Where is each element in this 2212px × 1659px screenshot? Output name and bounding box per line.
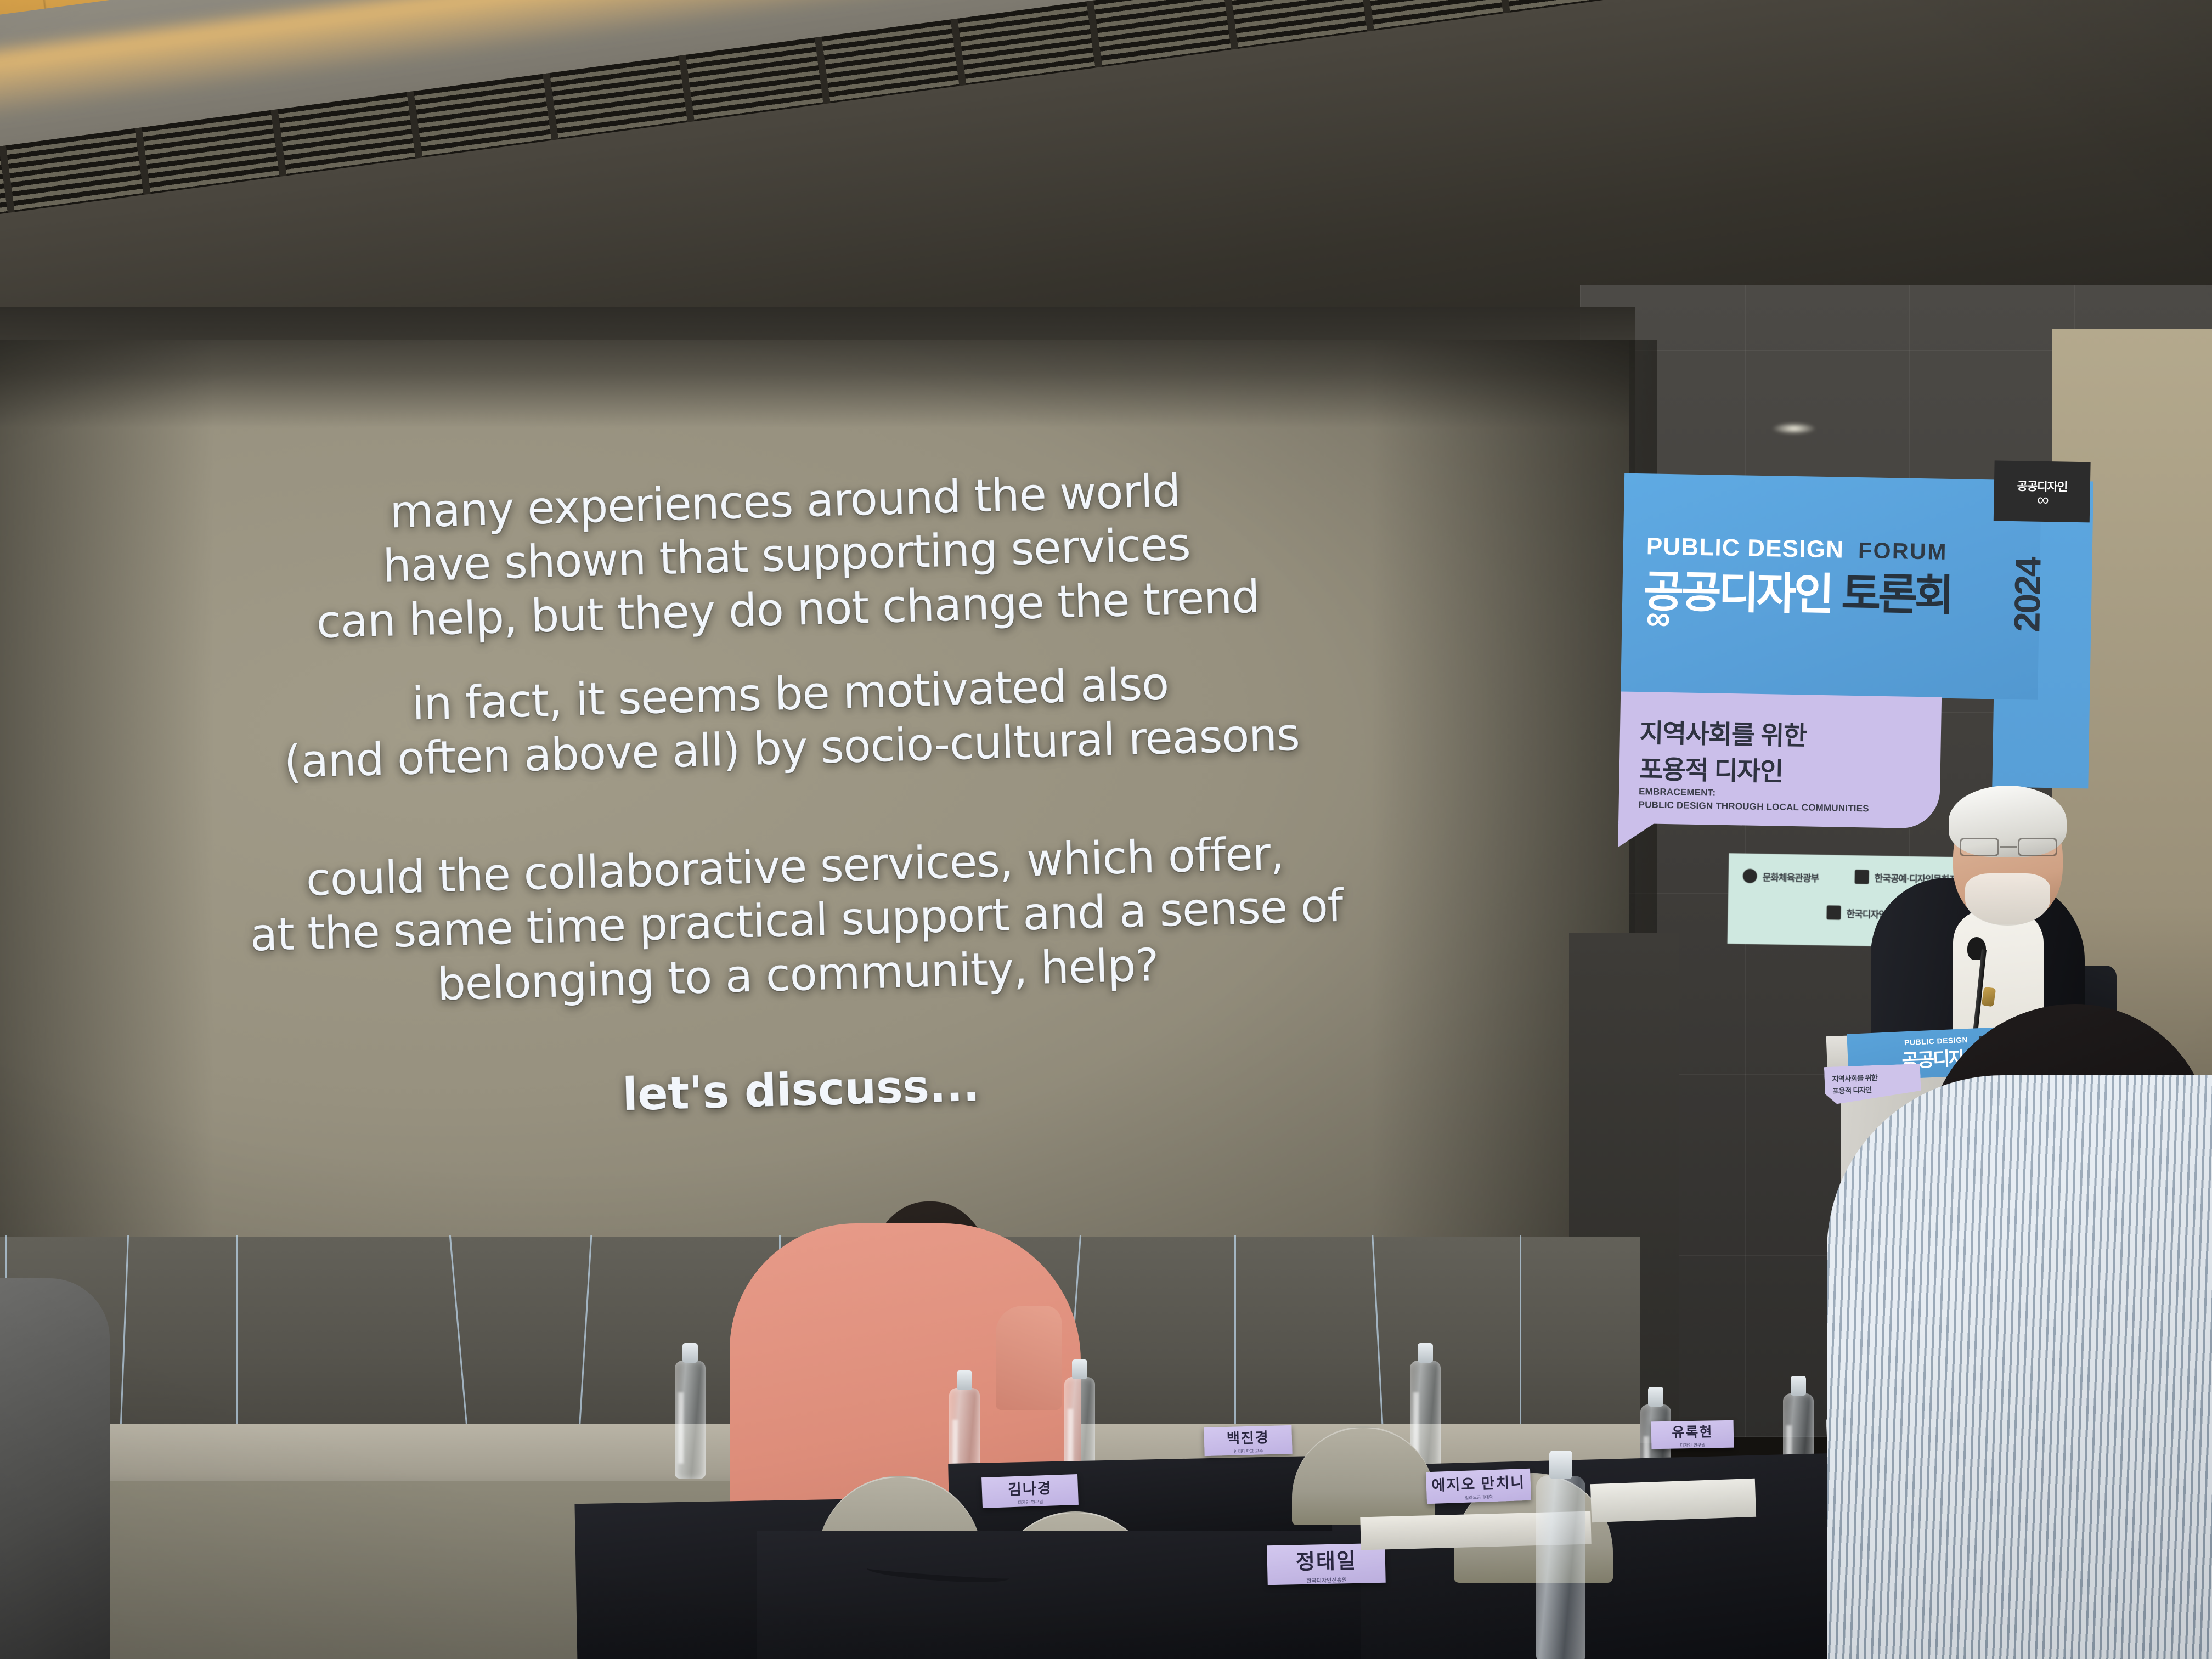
banner-infinity-icon: ∞ — [1646, 599, 1666, 638]
panelist-arm — [996, 1306, 1062, 1410]
screen-vignette — [0, 340, 1635, 1273]
banner-subtitle-box: 지역사회를 위한 포용적 디자인 EMBRACEMENT: PUBLIC DES… — [1618, 692, 1942, 829]
nameplate-subtitle: 한국디자인진흥원 — [1306, 1575, 1347, 1584]
nameplate: 유록현 디자인 연구원 — [1651, 1420, 1734, 1449]
banner-korean-titles: 공공디자인 토론회 — [1643, 556, 1952, 625]
nameplate-subtitle: 밀라노공과대학 — [1465, 1494, 1493, 1501]
water-bottle-foreground — [1536, 1476, 1585, 1659]
nameplate: 김나경 디자인 연구원 — [981, 1474, 1079, 1508]
nameplate-subtitle: 디자인 연구원 — [1680, 1442, 1706, 1448]
banner-subtitle-ko-1: 지역사회를 위한 — [1639, 712, 1807, 752]
ceiling-spotlight — [1772, 422, 1816, 435]
papers-on-table — [1590, 1479, 1756, 1522]
banner-year: 2024 — [2006, 558, 2049, 633]
foreground-audience-striped-shirt — [1827, 1075, 2212, 1659]
kidp-logo-icon — [1826, 905, 1841, 919]
nameplate-name: 유록현 — [1672, 1421, 1713, 1441]
speaker-glasses-icon — [1957, 838, 2059, 856]
banner-subtitle-en-2: PUBLIC DESIGN THROUGH LOCAL COMMUNITIES — [1638, 799, 1869, 814]
sponsor-item: 문화체육관광부 — [1743, 869, 1819, 884]
nameplate-name: 백진경 — [1226, 1426, 1269, 1448]
conference-hall-photo: many experiences around the world have s… — [0, 0, 2212, 1659]
nameplate-name: 김나경 — [1007, 1476, 1052, 1499]
nameplate-name: 에지오 만치니 — [1431, 1470, 1526, 1495]
water-bottle — [675, 1361, 706, 1479]
nameplate: 에지오 만치니 밀라노공과대학 — [1426, 1469, 1531, 1504]
audience-member-left — [0, 1278, 110, 1659]
infinity-icon: ∞ — [2037, 494, 2047, 505]
banner-title-ko-toronhoe: 토론회 — [1841, 560, 1952, 623]
public-design-logo-mark: 공공디자인 ∞ — [1994, 460, 2091, 522]
nameplate-subtitle: 인제대학교 교수 — [1234, 1448, 1263, 1454]
sponsor-name: 문화체육관광부 — [1763, 870, 1819, 884]
taegeuk-icon — [1743, 869, 1757, 883]
speaker-beard — [1965, 873, 2050, 926]
banner-subtitle-en-1: EMBRACEMENT: — [1639, 786, 1716, 798]
nameplate-name: 정태일 — [1295, 1544, 1357, 1575]
kcdf-logo-icon — [1855, 870, 1869, 884]
nameplate: 백진경 인제대학교 교수 — [1204, 1425, 1292, 1456]
banner-subtitle-tail — [1618, 821, 1657, 848]
banner-subtitle-ko-2: 포용적 디자인 — [1639, 748, 1783, 788]
banner-title-ko-gonggong: 공공디자인 — [1643, 556, 1832, 623]
nameplate-subtitle: 디자인 연구원 — [1018, 1499, 1043, 1506]
podium-tag-line-1: 지역사회를 위한 — [1832, 1070, 1921, 1084]
microphone-clip — [1982, 987, 1996, 1007]
